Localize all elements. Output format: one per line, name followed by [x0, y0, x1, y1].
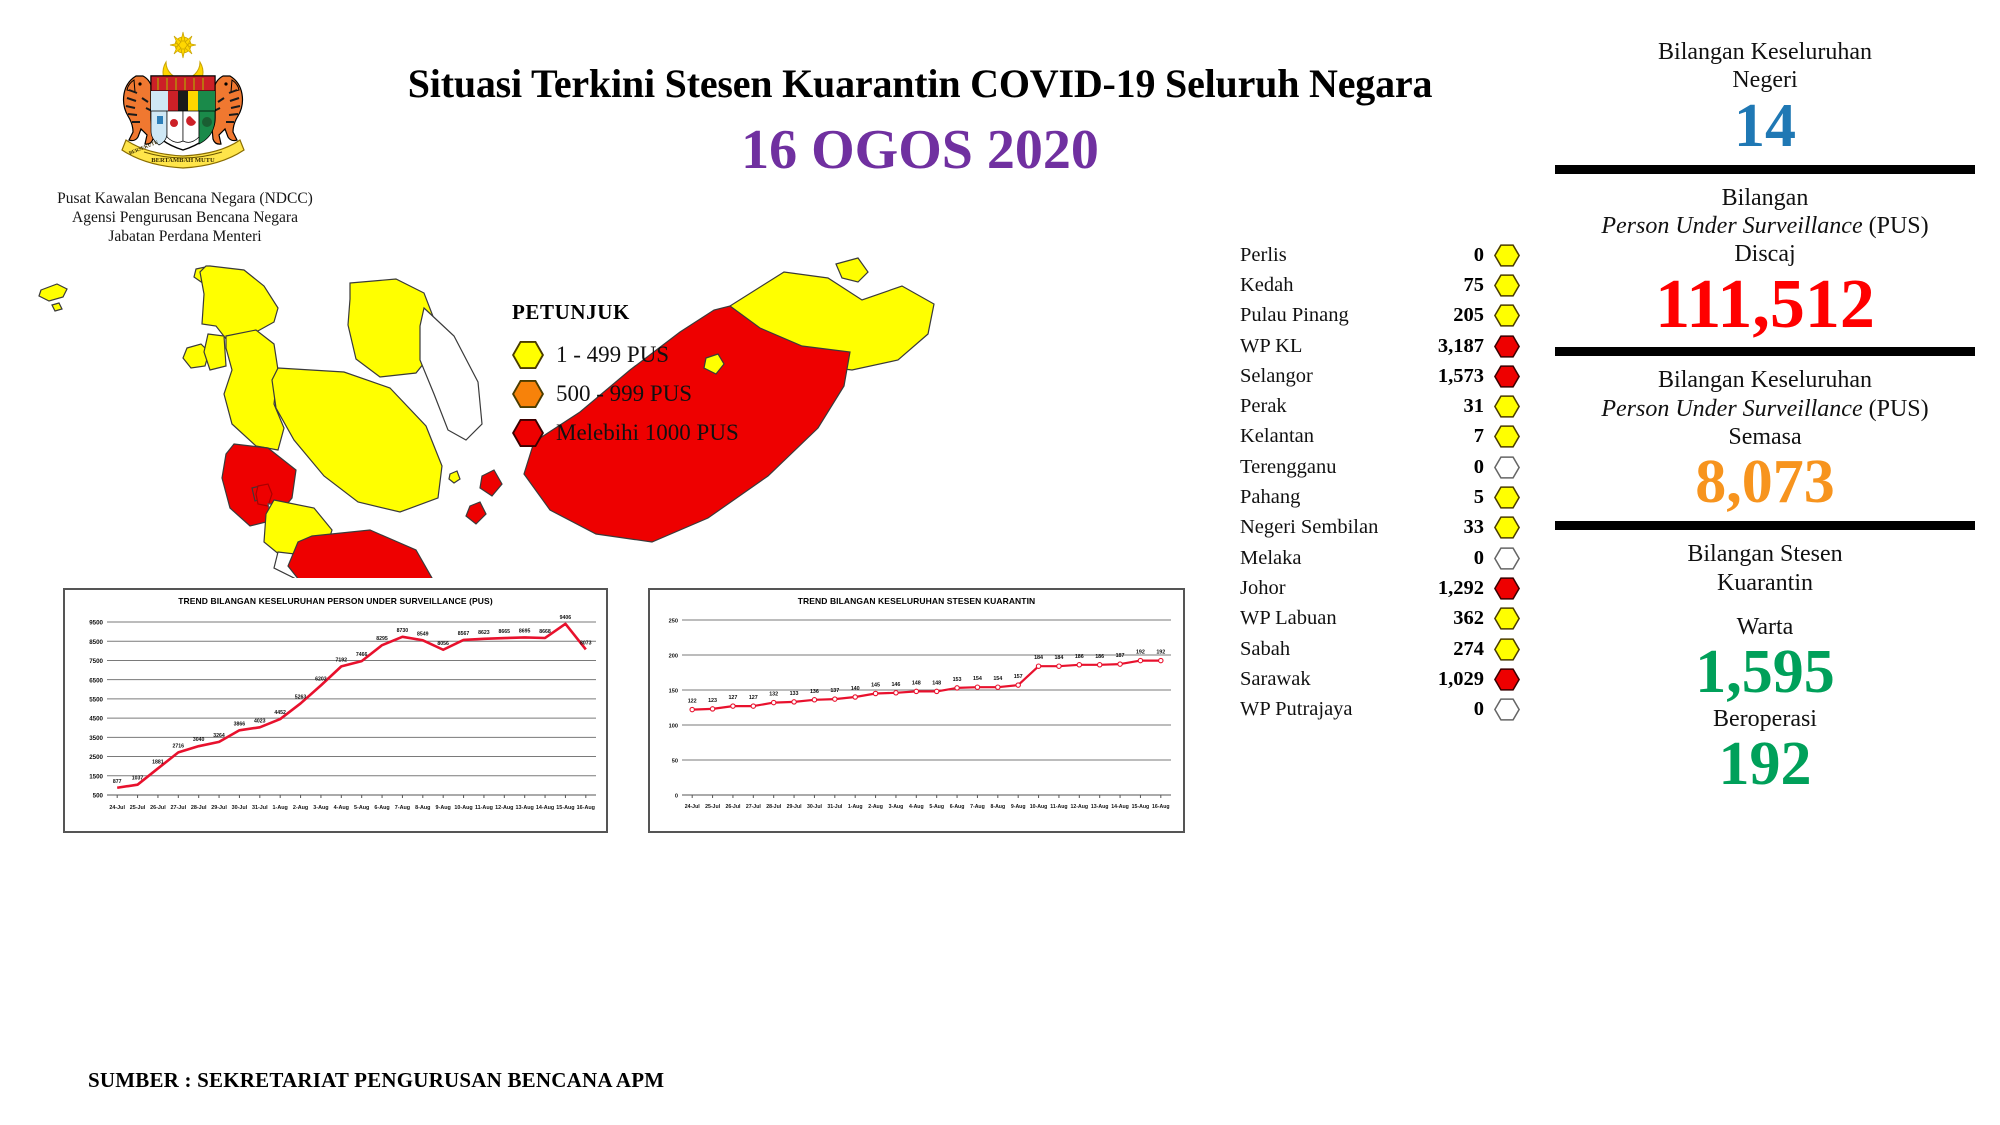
data-label: 3264: [213, 733, 225, 739]
x-axis-tick: 29-Jul: [211, 805, 227, 811]
x-axis-tick: 2-Aug: [293, 805, 308, 811]
stat-caption-line: Bilangan Stesen: [1555, 540, 1975, 568]
data-point: [751, 704, 755, 708]
data-point: [1159, 658, 1163, 662]
legend-item-yellow: 1 - 499 PUS: [512, 335, 739, 374]
organization-caption: Pusat Kawalan Bencana Negara (NDCC) Agen…: [40, 190, 330, 247]
data-label: 122: [688, 699, 697, 705]
state-name: Terengganu: [1240, 456, 1416, 479]
chart2-plot: 05010015020025024-Jul25-Jul26-Jul27-Jul2…: [650, 590, 1183, 831]
hexagon-icon: [1494, 698, 1520, 721]
state-value: 31: [1416, 395, 1494, 418]
divider: [1555, 165, 1975, 174]
data-label: 8623: [478, 630, 490, 636]
data-point: [833, 697, 837, 701]
data-label: 8665: [499, 629, 511, 635]
data-series-line: [692, 661, 1161, 710]
x-axis-tick: 30-Jul: [232, 805, 248, 811]
state-name: Negeri Sembilan: [1240, 516, 1416, 539]
x-axis-tick: 4-Aug: [909, 804, 924, 810]
x-axis-tick: 12-Aug: [495, 805, 513, 811]
state-row: Kelantan7: [1240, 422, 1520, 452]
stat-caption-line: Bilangan Keseluruhan: [1555, 38, 1975, 66]
stat-value: 111,512: [1555, 269, 1975, 340]
state-value: 1,292: [1416, 577, 1494, 600]
data-label: 877: [113, 779, 122, 785]
hexagon-icon: [1494, 547, 1520, 570]
map-island-langkawi: [39, 284, 67, 311]
x-axis-tick: 24-Jul: [685, 804, 701, 810]
x-axis-tick: 14-Aug: [1111, 804, 1129, 810]
state-row: Sarawak1,029: [1240, 664, 1520, 694]
data-label: 127: [749, 695, 758, 701]
data-point: [914, 689, 918, 693]
data-point: [1097, 663, 1101, 667]
data-point: [792, 700, 796, 704]
state-row: WP KL3,187: [1240, 331, 1520, 361]
legend-label-yellow: 1 - 499 PUS: [556, 342, 669, 368]
map-state-penang-mainland: [204, 334, 226, 370]
state-value: 5: [1416, 486, 1494, 509]
stat-block: BilanganPerson Under Surveillance (PUS)D…: [1555, 184, 1975, 340]
map-state-wp-kl: [256, 484, 272, 506]
stat-caption-line: Discaj: [1555, 240, 1975, 268]
stat-caption-line: Kuarantin: [1555, 569, 1975, 597]
x-axis-tick: 24-Jul: [109, 805, 125, 811]
data-series-line: [117, 624, 586, 788]
data-point: [771, 700, 775, 704]
hexagon-icon: [512, 341, 544, 369]
hexagon-icon: [1494, 335, 1520, 358]
x-axis-tick: 6-Aug: [950, 804, 965, 810]
x-axis-tick: 4-Aug: [334, 805, 349, 811]
state-value: 1,573: [1416, 365, 1494, 388]
stations-caption: Bilangan StesenKuarantin: [1555, 540, 1975, 597]
data-label: 9406: [560, 615, 572, 621]
data-label: 132: [769, 692, 778, 698]
state-row: Perak31: [1240, 391, 1520, 421]
hexagon-icon: [1494, 304, 1520, 327]
stat-block: Bilangan KeseluruhanPerson Under Surveil…: [1555, 366, 1975, 514]
state-name: Perak: [1240, 395, 1416, 418]
state-name: Selangor: [1240, 365, 1416, 388]
data-label: 154: [993, 676, 1002, 682]
y-axis-tick: 100: [669, 724, 678, 730]
state-row: Pahang5: [1240, 482, 1520, 512]
data-label: 192: [1156, 650, 1165, 656]
stat-caption-line: Bilangan: [1555, 184, 1975, 212]
state-value: 0: [1416, 456, 1494, 479]
state-pus-list: Perlis0Kedah75Pulau Pinang205WP KL3,187S…: [1240, 240, 1520, 725]
data-label: 154: [973, 676, 982, 682]
x-axis-tick: 9-Aug: [436, 805, 451, 811]
legend-label-orange: 500 - 999 PUS: [556, 381, 692, 407]
y-axis-tick: 200: [669, 654, 678, 660]
data-point: [934, 689, 938, 693]
data-point: [1118, 662, 1122, 666]
legend-item-orange: 500 - 999 PUS: [512, 374, 739, 413]
hexagon-icon: [1494, 274, 1520, 297]
data-label: 8073: [580, 640, 592, 646]
stat-caption-line: Semasa: [1555, 423, 1975, 451]
state-value: 0: [1416, 698, 1494, 721]
hexagon-icon: [512, 419, 544, 447]
data-label: 127: [728, 695, 737, 701]
x-axis-tick: 9-Aug: [1011, 804, 1026, 810]
x-axis-tick: 26-Jul: [725, 804, 741, 810]
state-row: Pulau Pinang205: [1240, 301, 1520, 331]
map-legend: PETUNJUK 1 - 499 PUS 500 - 999 PUS Meleb…: [512, 300, 739, 452]
data-label: 1037: [132, 776, 144, 782]
x-axis-tick: 25-Jul: [705, 804, 721, 810]
chart1-plot: 5001500250035004500550065007500850095002…: [65, 590, 606, 831]
x-axis-tick: 1-Aug: [273, 805, 288, 811]
data-label: 8695: [519, 628, 531, 634]
state-name: Pahang: [1240, 486, 1416, 509]
data-label: 7466: [356, 652, 368, 658]
data-point: [996, 685, 1000, 689]
x-axis-tick: 6-Aug: [374, 805, 389, 811]
x-axis-tick: 14-Aug: [536, 805, 554, 811]
y-axis-tick: 50: [672, 759, 678, 765]
state-name: WP Labuan: [1240, 607, 1416, 630]
legend-item-red: Melebihi 1000 PUS: [512, 413, 739, 452]
hexagon-icon: [1494, 638, 1520, 661]
stat-caption: Bilangan KeseluruhanPerson Under Surveil…: [1555, 366, 1975, 451]
data-label: 136: [810, 689, 819, 695]
page-title: Situasi Terkini Stesen Kuarantin COVID-1…: [300, 60, 1540, 107]
x-axis-tick: 1-Aug: [848, 804, 863, 810]
y-axis-tick: 2500: [89, 754, 103, 761]
state-value: 75: [1416, 274, 1494, 297]
state-row: Johor1,292: [1240, 573, 1520, 603]
data-label: 3866: [234, 721, 246, 727]
hexagon-icon: [1494, 516, 1520, 539]
x-axis-tick: 13-Aug: [1091, 804, 1109, 810]
x-axis-tick: 28-Jul: [766, 804, 782, 810]
state-name: Sabah: [1240, 638, 1416, 661]
x-axis-tick: 10-Aug: [1030, 804, 1048, 810]
hexagon-icon: [1494, 486, 1520, 509]
data-label: 148: [932, 680, 941, 686]
x-axis-tick: 25-Jul: [130, 805, 146, 811]
stat-caption-line: Person Under Surveillance (PUS): [1555, 212, 1975, 240]
data-point: [873, 691, 877, 695]
data-label: 8549: [417, 631, 429, 637]
data-point: [853, 695, 857, 699]
state-name: WP KL: [1240, 335, 1416, 358]
data-label: 137: [830, 688, 839, 694]
x-axis-tick: 3-Aug: [889, 804, 904, 810]
data-point: [975, 685, 979, 689]
data-point: [1077, 663, 1081, 667]
y-axis-tick: 9500: [89, 620, 103, 627]
beroperasi-label: Beroperasi: [1555, 705, 1975, 733]
data-label: 8668: [539, 629, 551, 635]
state-name: Kedah: [1240, 274, 1416, 297]
map-state-johor: [288, 530, 432, 578]
data-label: 186: [1095, 654, 1104, 660]
state-name: Melaka: [1240, 547, 1416, 570]
data-point: [955, 686, 959, 690]
x-axis-tick: 26-Jul: [150, 805, 166, 811]
malaysia-coat-of-arms-icon: BERTAMBAH MUTU BERSEKUTU: [88, 28, 278, 178]
state-value: 33: [1416, 516, 1494, 539]
legend-title: PETUNJUK: [512, 300, 739, 325]
data-label: 133: [790, 691, 799, 697]
state-row: WP Putrajaya0: [1240, 694, 1520, 724]
x-axis-tick: 8-Aug: [415, 805, 430, 811]
data-label: 1881: [152, 759, 164, 765]
caption-line-3: Jabatan Perdana Menteri: [40, 228, 330, 247]
divider: [1555, 521, 1975, 530]
caption-line-1: Pusat Kawalan Bencana Negara (NDCC): [40, 190, 330, 209]
x-axis-tick: 27-Jul: [171, 805, 187, 811]
state-row: Selangor1,573: [1240, 361, 1520, 391]
state-row: Terengganu0: [1240, 452, 1520, 482]
state-value: 3,187: [1416, 335, 1494, 358]
data-label: 148: [912, 680, 921, 686]
warta-value: 1,595: [1555, 641, 1975, 704]
map-state-terengganu: [420, 308, 482, 440]
state-row: Negeri Sembilan33: [1240, 513, 1520, 543]
state-value: 205: [1416, 304, 1494, 327]
x-axis-tick: 16-Aug: [1152, 804, 1170, 810]
hexagon-icon: [1494, 668, 1520, 691]
hexagon-icon: [1494, 425, 1520, 448]
data-label: 2716: [173, 743, 185, 749]
chart-pus-trend: TREND BILANGAN KESELURUHAN PERSON UNDER …: [63, 588, 608, 833]
state-name: Johor: [1240, 577, 1416, 600]
state-value: 274: [1416, 638, 1494, 661]
data-label: 192: [1136, 650, 1145, 656]
hexagon-icon: [1494, 244, 1520, 267]
data-point: [1036, 664, 1040, 668]
hexagon-icon: [1494, 577, 1520, 600]
hexagon-icon: [512, 380, 544, 408]
state-value: 362: [1416, 607, 1494, 630]
x-axis-tick: 13-Aug: [516, 805, 534, 811]
data-point: [731, 704, 735, 708]
stat-caption: BilanganPerson Under Surveillance (PUS)D…: [1555, 184, 1975, 269]
state-name: Sarawak: [1240, 668, 1416, 691]
data-label: 123: [708, 698, 717, 704]
data-label: 4452: [274, 710, 286, 716]
beroperasi-value: 192: [1555, 733, 1975, 796]
summary-stats-panel: Bilangan KeseluruhanNegeri14BilanganPers…: [1555, 38, 1975, 796]
state-row: Kedah75: [1240, 270, 1520, 300]
data-label: 8056: [437, 641, 449, 647]
x-axis-tick: 31-Jul: [827, 804, 843, 810]
y-axis-tick: 7500: [89, 658, 103, 665]
stat-value: 8,073: [1555, 451, 1975, 514]
data-label: 7192: [336, 657, 348, 663]
state-name: Kelantan: [1240, 425, 1416, 448]
state-row: Perlis0: [1240, 240, 1520, 270]
hexagon-icon: [1494, 365, 1520, 388]
x-axis-tick: 15-Aug: [1132, 804, 1150, 810]
y-axis-tick: 3500: [89, 735, 103, 742]
divider: [1555, 347, 1975, 356]
data-point: [690, 707, 694, 711]
x-axis-tick: 11-Aug: [1050, 804, 1067, 810]
chart-station-trend: TREND BILANGAN KESELURUHAN STESEN KUARAN…: [648, 588, 1185, 833]
data-point: [812, 698, 816, 702]
data-label: 145: [871, 683, 880, 689]
report-date: 16 OGOS 2020: [300, 118, 1540, 182]
map-state-pahang: [272, 368, 442, 512]
y-axis-tick: 1500: [89, 773, 103, 780]
x-axis-tick: 12-Aug: [1071, 804, 1089, 810]
x-axis-tick: 3-Aug: [313, 805, 328, 811]
data-label: 184: [1034, 655, 1043, 661]
data-label: 8567: [458, 631, 470, 637]
hexagon-icon: [1494, 456, 1520, 479]
data-label: 186: [1075, 654, 1084, 660]
data-label: 146: [891, 682, 900, 688]
stat-caption: Bilangan KeseluruhanNegeri: [1555, 38, 1975, 95]
stations-block: Bilangan StesenKuarantinWarta1,595Berope…: [1555, 540, 1975, 796]
svg-text:BERTAMBAH MUTU: BERTAMBAH MUTU: [151, 157, 215, 164]
state-value: 0: [1416, 547, 1494, 570]
data-label: 153: [953, 677, 962, 683]
hexagon-icon: [1494, 607, 1520, 630]
y-axis-tick: 5500: [89, 696, 103, 703]
state-row: Melaka0: [1240, 543, 1520, 573]
data-point: [1138, 658, 1142, 662]
stat-caption-line: Bilangan Keseluruhan: [1555, 366, 1975, 394]
y-axis-tick: 4500: [89, 716, 103, 723]
x-axis-tick: 31-Jul: [252, 805, 268, 811]
data-label: 5263: [295, 694, 307, 700]
data-label: 3040: [193, 737, 205, 743]
legend-label-red: Melebihi 1000 PUS: [556, 420, 739, 446]
y-axis-tick: 6500: [89, 677, 103, 684]
y-axis-tick: 250: [669, 619, 678, 625]
data-label: 184: [1054, 655, 1063, 661]
x-axis-tick: 8-Aug: [990, 804, 1005, 810]
x-axis-tick: 10-Aug: [454, 805, 472, 811]
x-axis-tick: 11-Aug: [475, 805, 493, 811]
data-point: [710, 707, 714, 711]
data-point: [894, 691, 898, 695]
stat-block: Bilangan KeseluruhanNegeri14: [1555, 38, 1975, 158]
x-axis-tick: 15-Aug: [556, 805, 574, 811]
state-value: 0: [1416, 244, 1494, 267]
state-row: WP Labuan362: [1240, 604, 1520, 634]
state-name: WP Putrajaya: [1240, 698, 1416, 721]
x-axis-tick: 27-Jul: [746, 804, 762, 810]
stat-caption-line: Person Under Surveillance (PUS): [1555, 395, 1975, 423]
hexagon-icon: [1494, 395, 1520, 418]
map-island-tioman: [449, 471, 460, 483]
x-axis-tick: 5-Aug: [929, 804, 944, 810]
state-name: Pulau Pinang: [1240, 304, 1416, 327]
state-value: 7: [1416, 425, 1494, 448]
data-label: 187: [1116, 653, 1125, 659]
x-axis-tick: 16-Aug: [577, 805, 595, 811]
x-axis-tick: 28-Jul: [191, 805, 207, 811]
source-footer: SUMBER : SEKRETARIAT PENGURUSAN BENCANA …: [88, 1068, 664, 1093]
x-axis-tick: 5-Aug: [354, 805, 369, 811]
y-axis-tick: 8500: [89, 639, 103, 646]
state-value: 1,029: [1416, 668, 1494, 691]
x-axis-tick: 7-Aug: [395, 805, 410, 811]
data-label: 8295: [376, 636, 388, 642]
y-axis-tick: 150: [669, 689, 678, 695]
x-axis-tick: 29-Jul: [787, 804, 803, 810]
data-label: 140: [851, 686, 860, 692]
data-point: [1057, 664, 1061, 668]
state-row: Sabah274: [1240, 634, 1520, 664]
x-axis-tick: 30-Jul: [807, 804, 823, 810]
data-label: 157: [1014, 674, 1023, 680]
data-label: 8730: [397, 628, 409, 634]
y-axis-tick: 500: [93, 793, 104, 800]
state-name: Perlis: [1240, 244, 1416, 267]
data-point: [1016, 683, 1020, 687]
warta-label: Warta: [1555, 613, 1975, 641]
caption-line-2: Agensi Pengurusan Bencana Negara: [40, 209, 330, 228]
stat-caption-line: Negeri: [1555, 66, 1975, 94]
y-axis-tick: 0: [675, 794, 678, 800]
x-axis-tick: 2-Aug: [868, 804, 883, 810]
data-label: 6203: [315, 676, 327, 682]
data-label: 4023: [254, 718, 266, 724]
x-axis-tick: 7-Aug: [970, 804, 985, 810]
stat-value: 14: [1555, 95, 1975, 158]
